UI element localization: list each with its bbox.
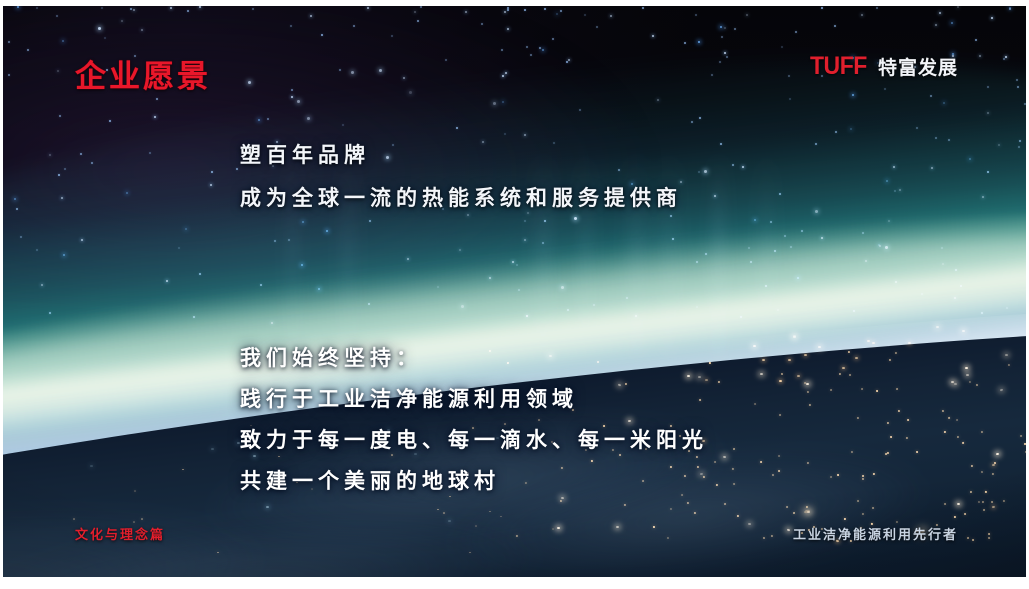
commitment-heading: 我们始终坚持： (240, 338, 708, 379)
commitment-line: 致力于每一度电、每一滴水、每一米阳光 (240, 420, 708, 461)
vision-line: 塑百年品牌 (240, 134, 682, 177)
footer-tagline: 工业洁净能源利用先行者 (793, 524, 958, 543)
commitment-line: 共建一个美丽的地球村 (240, 461, 708, 502)
vision-statement-block: 塑百年品牌 成为全球一流的热能系统和服务提供商 (240, 134, 682, 220)
vision-line: 成为全球一流的热能系统和服务提供商 (240, 177, 682, 220)
commitment-line: 践行于工业洁净能源利用领域 (240, 379, 708, 420)
slide-background-photo: 企业愿景 TUFF 特富发展 塑百年品牌 成为全球一流的热能系统和服务提供商 我… (3, 6, 1026, 577)
tuff-wordmark: TUFF (810, 52, 867, 81)
commitment-statement-block: 我们始终坚持： 践行于工业洁净能源利用领域 致力于每一度电、每一滴水、每一米阳光… (240, 338, 708, 502)
slide-content: 企业愿景 TUFF 特富发展 塑百年品牌 成为全球一流的热能系统和服务提供商 我… (3, 6, 1026, 577)
brand-name-cn: 特富发展 (878, 53, 958, 80)
page-title: 企业愿景 (75, 51, 211, 96)
footer-section-label: 文化与理念篇 (75, 524, 165, 543)
brand-logo: TUFF 特富发展 (805, 52, 958, 81)
presentation-slide: 企业愿景 TUFF 特富发展 塑百年品牌 成为全球一流的热能系统和服务提供商 我… (0, 0, 1029, 589)
